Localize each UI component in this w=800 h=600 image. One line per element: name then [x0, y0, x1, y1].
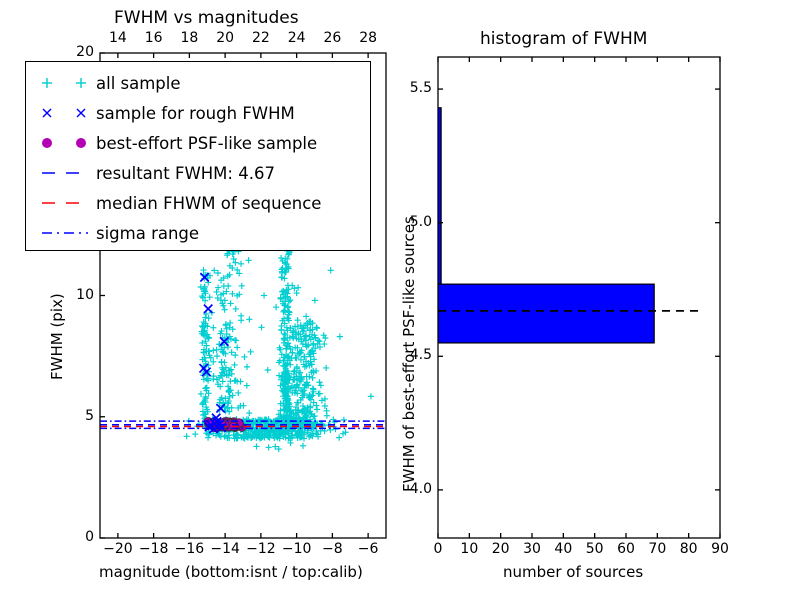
legend: all sample sample for rough FWHM b — [25, 61, 371, 251]
right-xtick: 50 — [586, 541, 604, 557]
legend-item-psf-like: best-effort PSF-like sample — [26, 128, 370, 158]
right-xtick: 10 — [460, 541, 478, 557]
left-xtick-top: 24 — [288, 30, 306, 46]
left-xtick-bottom: −10 — [282, 541, 312, 557]
right-xtick: 70 — [648, 541, 666, 557]
legend-label: median FHWM of sequence — [96, 194, 321, 213]
left-xtick-top: 14 — [109, 30, 127, 46]
left-xtick-top: 26 — [323, 30, 341, 46]
left-panel-xlabel: magnitude (bottom:isnt / top:calib) — [99, 563, 363, 581]
red-dashed-line-icon — [34, 189, 96, 217]
legend-item-resultant-fwhm: resultant FWHM: 4.67 — [26, 158, 370, 188]
right-xtick: 90 — [711, 541, 729, 557]
left-xtick-bottom: −14 — [210, 541, 240, 557]
legend-label: all sample — [96, 74, 181, 93]
right-ytick: 5.5 — [410, 80, 432, 96]
plus-marker-icon — [34, 69, 96, 97]
legend-item-median-fhwm: median FHWM of sequence — [26, 188, 370, 218]
right-xtick: 30 — [523, 541, 541, 557]
right-xtick: 0 — [434, 541, 443, 557]
legend-item-all-sample: all sample — [26, 68, 370, 98]
left-ytick: 0 — [85, 529, 94, 545]
left-ytick: 10 — [76, 287, 94, 303]
left-xtick-top: 18 — [180, 30, 198, 46]
right-xtick: 40 — [554, 541, 572, 557]
left-xtick-bottom: −16 — [175, 541, 205, 557]
figure-canvas-root: FWHM vs magnitudes magnitude (bottom:isn… — [0, 0, 800, 600]
left-xtick-bottom: −18 — [139, 541, 169, 557]
left-xtick-bottom: −20 — [103, 541, 133, 557]
legend-label: sigma range — [96, 224, 199, 243]
right-panel-title: histogram of FWHM — [480, 29, 647, 49]
right-xtick: 60 — [617, 541, 635, 557]
legend-label: sample for rough FWHM — [96, 104, 295, 123]
left-panel-ylabel: FWHM (pix) — [48, 293, 66, 380]
left-xtick-top: 28 — [359, 30, 377, 46]
legend-label: best-effort PSF-like sample — [96, 134, 317, 153]
left-xtick-top: 20 — [216, 30, 234, 46]
blue-dashed-line-icon — [34, 159, 96, 187]
right-ytick: 4.5 — [410, 347, 432, 363]
legend-item-sigma-range: sigma range — [26, 218, 370, 248]
cross-marker-icon — [34, 99, 96, 127]
right-panel-xlabel: number of sources — [503, 563, 643, 581]
right-xtick: 20 — [492, 541, 510, 557]
left-ytick: 5 — [85, 408, 94, 424]
legend-label: resultant FWHM: 4.67 — [96, 164, 275, 183]
dot-marker-icon — [34, 129, 96, 157]
left-xtick-bottom: −12 — [246, 541, 276, 557]
legend-item-rough-fwhm: sample for rough FWHM — [26, 98, 370, 128]
left-xtick-top: 22 — [252, 30, 270, 46]
left-panel-title: FWHM vs magnitudes — [114, 8, 299, 28]
right-ytick: 4.0 — [410, 481, 432, 497]
left-xtick-bottom: −8 — [322, 541, 343, 557]
left-xtick-bottom: −6 — [358, 541, 379, 557]
right-ytick: 5.0 — [410, 214, 432, 230]
left-ytick: 20 — [76, 44, 94, 60]
right-xtick: 80 — [680, 541, 698, 557]
blue-dashdot-line-icon — [34, 219, 96, 247]
left-xtick-top: 16 — [145, 30, 163, 46]
